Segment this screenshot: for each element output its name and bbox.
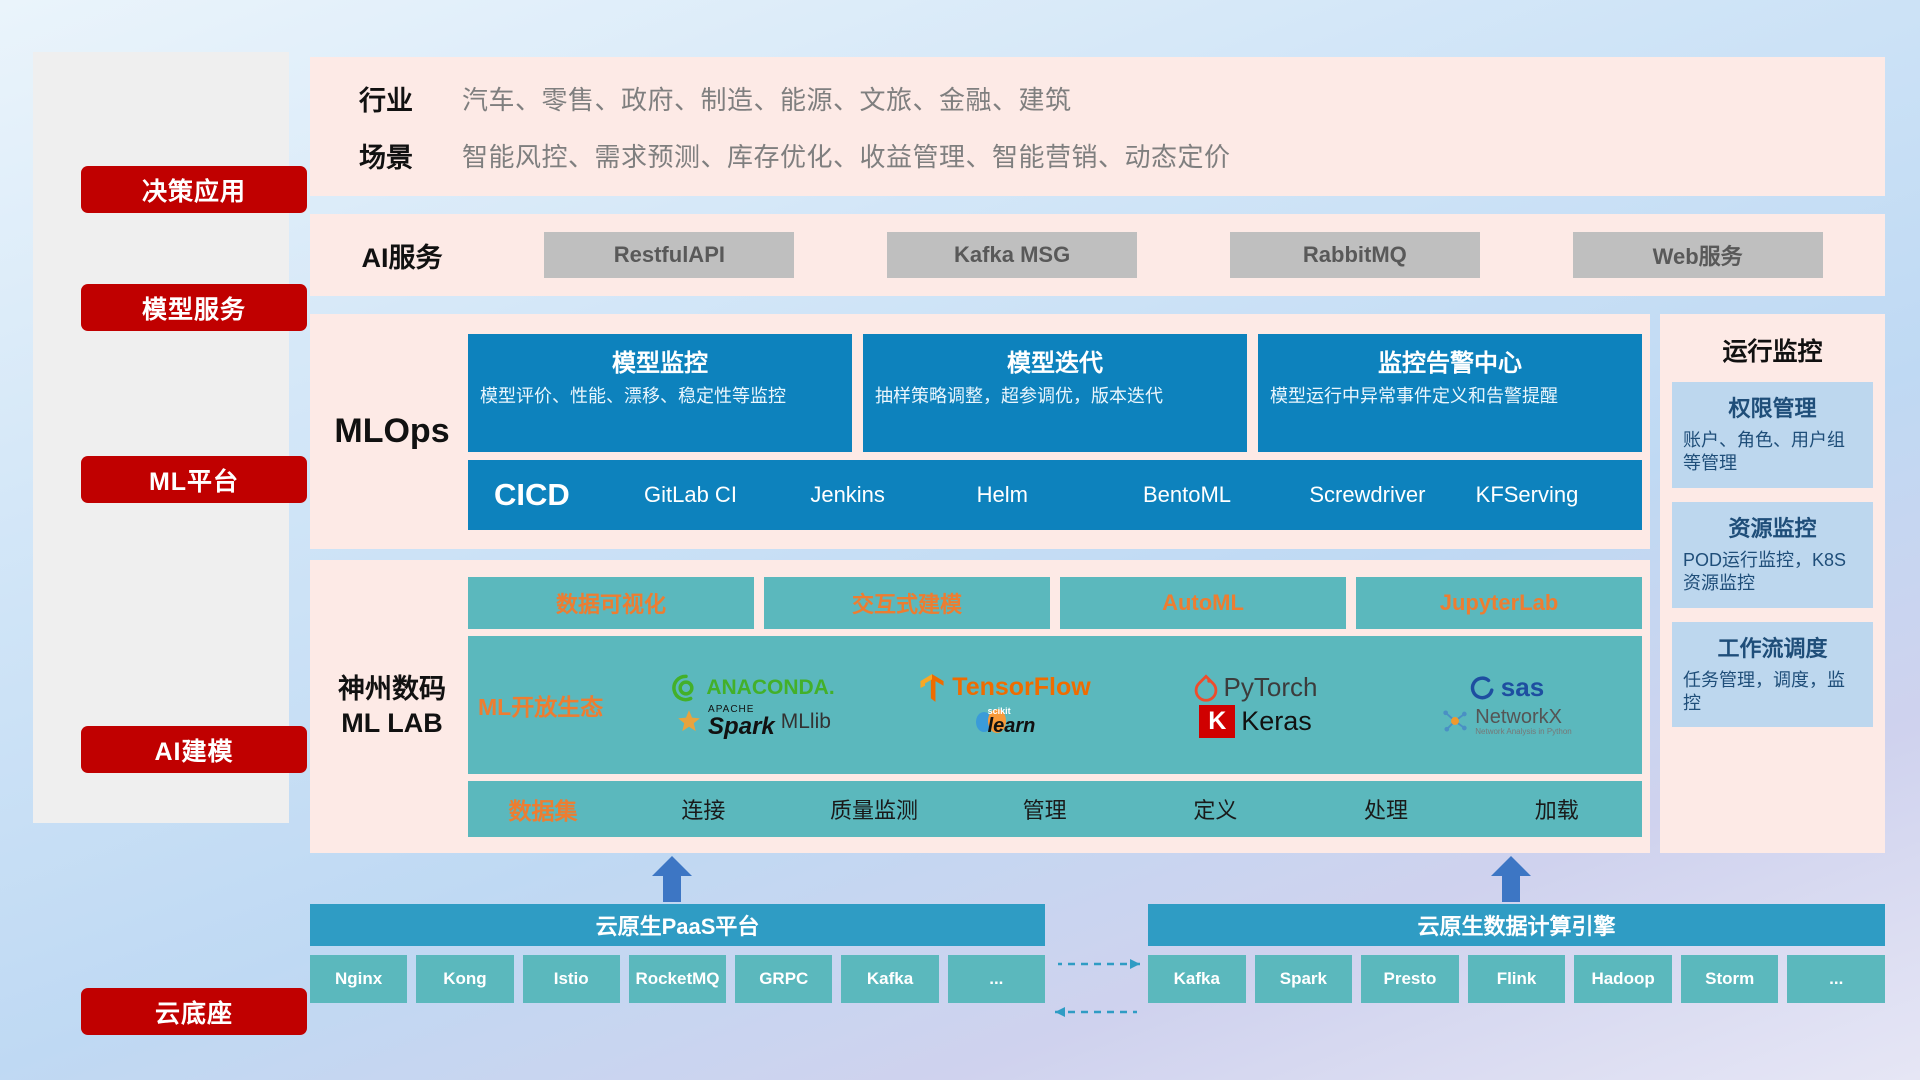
- dataset-item-load[interactable]: 加载: [1471, 793, 1642, 825]
- pytorch-label: PyTorch: [1224, 672, 1318, 703]
- paas-up-arrow-icon: [650, 856, 694, 902]
- ai-service-chip[interactable]: Web服务: [1573, 232, 1823, 278]
- card-title: 模型监控: [480, 343, 840, 378]
- paas-tag-kafka[interactable]: Kafka: [841, 955, 938, 1003]
- mlops-card-alert-center[interactable]: 监控告警中心 模型运行中异常事件定义和告警提醒: [1258, 334, 1642, 452]
- scenario-value: 智能风控、需求预测、库存优化、收益管理、智能营销、动态定价: [440, 137, 1231, 174]
- card-desc: 抽样策略调整，超参调优，版本迭代: [875, 385, 1235, 408]
- networkx-logo: NetworkX Network Analysis in Python: [1381, 707, 1632, 736]
- paas-tag-grpc[interactable]: GRPC: [735, 955, 832, 1003]
- cicd-item[interactable]: Helm: [977, 482, 1143, 507]
- mlops-card-model-monitoring[interactable]: 模型监控 模型评价、性能、漂移、稳定性等监控: [468, 334, 852, 452]
- card-title: 权限管理: [1683, 391, 1862, 423]
- industry-key: 行业: [332, 79, 440, 118]
- ai-service-chip[interactable]: Kafka MSG: [887, 232, 1137, 278]
- ml-ecosystem-row: ML开放生态 ANACONDA.: [468, 636, 1642, 774]
- card-desc: 模型评价、性能、漂移、稳定性等监控: [480, 385, 840, 408]
- mlops-band: MLOps 模型监控 模型评价、性能、漂移、稳定性等监控 模型迭代 抽样策略调整…: [310, 314, 1650, 549]
- scikit-learn-logo: scikit learn: [879, 707, 1130, 737]
- dataset-item-process[interactable]: 处理: [1301, 793, 1472, 825]
- engine-tag-hadoop[interactable]: Hadoop: [1574, 955, 1672, 1003]
- layer-rail: 决策应用 模型服务 ML平台 AI建模 云底座: [33, 52, 289, 823]
- rail-item-ai-modeling[interactable]: AI建模: [81, 726, 307, 773]
- sas-logo: sas: [1381, 672, 1632, 703]
- dataset-item-quality[interactable]: 质量监测: [789, 793, 960, 825]
- engine-tag-more[interactable]: ...: [1787, 955, 1885, 1003]
- paas-tag-rocketmq[interactable]: RocketMQ: [629, 955, 726, 1003]
- architecture-diagram: 决策应用 模型服务 ML平台 AI建模 云底座 行业 汽车、零售、政府、制造、能…: [0, 0, 1920, 1080]
- mlops-label: MLOps: [316, 412, 468, 451]
- tool-chip-jupyterlab[interactable]: JupyterLab: [1356, 577, 1642, 629]
- cicd-item[interactable]: BentoML: [1143, 482, 1309, 507]
- learn-label: learn: [988, 716, 1036, 736]
- card-title: 工作流调度: [1683, 631, 1862, 663]
- tool-chip-automl[interactable]: AutoML: [1060, 577, 1346, 629]
- engine-up-arrow-icon: [1489, 856, 1533, 902]
- engine-tag-presto[interactable]: Presto: [1361, 955, 1459, 1003]
- cicd-title: CICD: [494, 477, 644, 513]
- cicd-item[interactable]: Jenkins: [810, 482, 976, 507]
- tensorflow-label: TensorFlow: [952, 673, 1090, 702]
- rail-item-ml-platform[interactable]: ML平台: [81, 456, 307, 503]
- card-desc: 账户、角色、用户组等管理: [1683, 429, 1862, 476]
- monitoring-card-workflow[interactable]: 工作流调度 任务管理，调度，监控: [1672, 622, 1873, 728]
- paas-tag-more[interactable]: ...: [948, 955, 1045, 1003]
- card-title: 监控告警中心: [1270, 343, 1630, 378]
- cicd-item[interactable]: GitLab CI: [644, 482, 810, 507]
- keras-mark: K: [1199, 705, 1235, 738]
- pytorch-icon: [1194, 674, 1218, 702]
- ai-service-chip[interactable]: RabbitMQ: [1230, 232, 1480, 278]
- dataset-item-define[interactable]: 定义: [1130, 793, 1301, 825]
- spark-star-icon: [676, 709, 702, 735]
- engine-tag-flink[interactable]: Flink: [1468, 955, 1566, 1003]
- tensorflow-logo: TensorFlow: [879, 673, 1130, 703]
- paas-tag-kong[interactable]: Kong: [416, 955, 513, 1003]
- sas-icon: [1469, 675, 1495, 701]
- card-title: 模型迭代: [875, 343, 1235, 378]
- paas-tag-nginx[interactable]: Nginx: [310, 955, 407, 1003]
- paas-platform-bar[interactable]: 云原生PaaS平台: [310, 904, 1045, 946]
- cicd-item[interactable]: Screwdriver: [1309, 482, 1475, 507]
- engine-tag-storm[interactable]: Storm: [1681, 955, 1779, 1003]
- scenario-key: 场景: [332, 136, 440, 175]
- rail-label: AI建模: [154, 732, 233, 768]
- tool-chip-interactive-modeling[interactable]: 交互式建模: [764, 577, 1050, 629]
- paas-tag-istio[interactable]: Istio: [523, 955, 620, 1003]
- monitoring-card-permission[interactable]: 权限管理 账户、角色、用户组等管理: [1672, 382, 1873, 488]
- dataset-item-manage[interactable]: 管理: [959, 793, 1130, 825]
- sas-label: sas: [1501, 672, 1544, 703]
- rail-item-cloud-base[interactable]: 云底座: [81, 988, 307, 1035]
- keras-label: Keras: [1241, 706, 1312, 737]
- rail-label: ML平台: [149, 462, 239, 498]
- rail-label: 决策应用: [142, 172, 246, 208]
- bidirectional-dashed-connector: [1050, 950, 1145, 1025]
- card-desc: 任务管理，调度，监控: [1683, 669, 1862, 716]
- card-title: 资源监控: [1683, 511, 1862, 543]
- industry-row: 行业 汽车、零售、政府、制造、能源、文旅、金融、建筑: [332, 79, 1885, 118]
- rail-label: 云底座: [155, 994, 233, 1030]
- tensorflow-icon: [918, 673, 946, 703]
- cicd-row: CICD GitLab CI Jenkins Helm BentoML Scre…: [468, 460, 1642, 530]
- industry-value: 汽车、零售、政府、制造、能源、文旅、金融、建筑: [440, 80, 1072, 117]
- engine-tag-row: Kafka Spark Presto Flink Hadoop Storm ..…: [1148, 955, 1885, 1003]
- card-desc: 模型运行中异常事件定义和告警提醒: [1270, 385, 1630, 408]
- monitoring-card-resource[interactable]: 资源监控 POD运行监控，K8S资源监控: [1672, 502, 1873, 608]
- industry-scenario-band: 行业 汽车、零售、政府、制造、能源、文旅、金融、建筑 场景 智能风控、需求预测、…: [310, 57, 1885, 196]
- keras-logo: K Keras: [1130, 705, 1381, 738]
- spark-label: Spark: [708, 715, 775, 739]
- ai-service-label: AI服务: [322, 236, 482, 275]
- runtime-monitoring-column: 运行监控 权限管理 账户、角色、用户组等管理 资源监控 POD运行监控，K8S资…: [1660, 314, 1885, 853]
- pytorch-logo: PyTorch: [1130, 672, 1381, 703]
- dataset-item-connect[interactable]: 连接: [618, 793, 789, 825]
- data-engine-bar[interactable]: 云原生数据计算引擎: [1148, 904, 1885, 946]
- mlops-card-model-iteration[interactable]: 模型迭代 抽样策略调整，超参调优，版本迭代: [863, 334, 1247, 452]
- paas-tag-row: Nginx Kong Istio RocketMQ GRPC Kafka ...: [310, 955, 1045, 1003]
- card-desc: POD运行监控，K8S资源监控: [1683, 549, 1862, 596]
- rail-item-decision-app[interactable]: 决策应用: [81, 166, 307, 213]
- tool-chip-data-visualization[interactable]: 数据可视化: [468, 577, 754, 629]
- ml-lab-label-line2: ML LAB: [316, 707, 468, 741]
- anaconda-logo: ANACONDA.: [628, 674, 879, 702]
- networkx-sub-label: Network Analysis in Python: [1475, 728, 1572, 736]
- cicd-item[interactable]: KFServing: [1476, 482, 1642, 507]
- engine-tag-spark[interactable]: Spark: [1255, 955, 1353, 1003]
- ai-modeling-band: 神州数码 ML LAB 数据可视化 交互式建模 AutoML JupyterLa…: [310, 560, 1650, 853]
- spark-mllib-logo: APACHE Spark MLlib: [628, 705, 879, 739]
- ml-lab-label: 神州数码 ML LAB: [316, 673, 468, 741]
- networkx-icon: [1441, 707, 1469, 735]
- dataset-label: 数据集: [468, 792, 618, 826]
- eco-label: ML开放生态: [478, 688, 628, 722]
- ml-lab-label-line1: 神州数码: [316, 673, 468, 707]
- anaconda-label: ANACONDA.: [706, 676, 834, 700]
- networkx-label: NetworkX: [1475, 707, 1572, 728]
- dataset-row: 数据集 连接 质量监测 管理 定义 处理 加载: [468, 781, 1642, 837]
- scenario-row: 场景 智能风控、需求预测、库存优化、收益管理、智能营销、动态定价: [332, 136, 1885, 175]
- engine-tag-kafka[interactable]: Kafka: [1148, 955, 1246, 1003]
- ai-service-chip[interactable]: RestfulAPI: [544, 232, 794, 278]
- anaconda-icon: [672, 674, 700, 702]
- ai-service-band: AI服务 RestfulAPI Kafka MSG RabbitMQ Web服务: [310, 214, 1885, 296]
- rail-item-model-service[interactable]: 模型服务: [81, 284, 307, 331]
- monitoring-title: 运行监控: [1672, 332, 1873, 368]
- mllib-label: MLlib: [781, 710, 831, 734]
- rail-label: 模型服务: [142, 290, 246, 326]
